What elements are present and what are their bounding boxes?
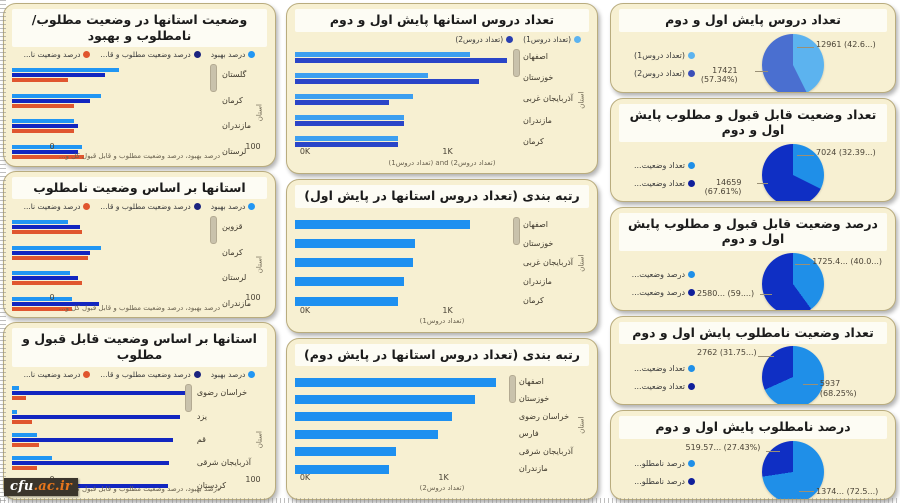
bar-favorable[interactable]: [12, 415, 180, 419]
card-rank-courses-first[interactable]: رتبه بندی (تعداد دروس استانها در پایش او…: [286, 179, 598, 332]
category-label: یزد: [197, 413, 251, 421]
card-courses-by-province-both[interactable]: تعداد دروس استانها پایش اول و دوم (تعداد…: [286, 3, 598, 174]
bar-favorable[interactable]: [12, 438, 173, 442]
legend-label: (تعداد دروس2): [634, 69, 685, 78]
bar-unfavorable[interactable]: [12, 78, 68, 82]
bar-group[interactable]: [295, 94, 509, 105]
legend-item[interactable]: درصد وضعیت...: [617, 270, 695, 279]
leader-line: [795, 264, 810, 265]
legend-swatch-favorable: [194, 203, 201, 210]
bar-group[interactable]: [295, 52, 509, 63]
card-title: تعداد وضعیت نامطلوب پایش اول و دوم: [619, 322, 887, 345]
x-axis-title: درصد بهبود، درصد وضعیت مطلوب و قابل قبول…: [4, 305, 275, 317]
x-axis: 0 100: [52, 142, 253, 153]
watermark-domain: .ac.ir: [34, 479, 72, 494]
bar-group[interactable]: [12, 220, 218, 234]
bar-courses1[interactable]: [295, 52, 470, 57]
legend-swatch-improvement: [248, 51, 255, 58]
x-tick: 1K: [442, 147, 452, 156]
bar-group[interactable]: [295, 258, 509, 267]
legend-label: تعداد وضعیت...: [634, 161, 685, 170]
card-acceptable-count-pie[interactable]: تعداد وضعیت قابل قبول و مطلوب پایش اول و…: [610, 98, 896, 202]
legend-label: درصد بهبود: [211, 370, 246, 379]
bar-unfavorable[interactable]: [12, 230, 82, 234]
category-label: گلستان: [222, 71, 251, 79]
x-axis-title: (تعداد دروس2) and (تعداد دروس1): [287, 160, 597, 172]
bar-favorable[interactable]: [12, 99, 90, 103]
bar-improvement[interactable]: [12, 456, 52, 460]
legend-item[interactable]: درصد وضعیت نا...: [24, 202, 91, 211]
card-rank-courses-second[interactable]: رتبه بندی (تعداد دروس استانها در پایش دو…: [286, 338, 598, 500]
bar-improvement[interactable]: [12, 433, 37, 437]
chart-legend: تعداد وضعیت... تعداد وضعیت...: [617, 161, 695, 188]
vertical-scrollbar[interactable]: [513, 49, 520, 77]
pie-slice-label: 1725.4... (40.0...): [812, 257, 882, 266]
legend-item[interactable]: درصد وضعیت مطلوب و قا...: [100, 370, 200, 379]
pie-slice-label: 2580... (59....): [697, 289, 754, 298]
bar-courses2[interactable]: [295, 378, 496, 387]
pie-wrap: تعداد وضعیت... تعداد وضعیت... 7024 (32.3…: [611, 144, 895, 202]
category-label: آذربایجان غربی: [523, 259, 573, 267]
bar-improvement[interactable]: [12, 271, 70, 275]
bar-courses2[interactable]: [295, 79, 479, 84]
bar-group[interactable]: [295, 115, 509, 126]
legend-label: (تعداد دروس2): [455, 35, 503, 44]
card-title: استانها بر اساس وضعیت قابل قبول و مطلوب: [12, 328, 267, 366]
bar-courses2[interactable]: [295, 430, 438, 439]
bar-improvement[interactable]: [12, 119, 74, 123]
category-label: خراسان رضوی: [197, 389, 251, 397]
card-title: رتبه بندی (تعداد دروس استانها در پایش دو…: [295, 344, 589, 367]
x-tick: 100: [245, 475, 260, 484]
category-label: فارس: [519, 430, 573, 438]
legend-swatch-courses2: [506, 36, 513, 43]
chart-legend: درصد نامطلو... درصد نامطلو...: [617, 459, 695, 486]
legend-label: تعداد وضعیت...: [634, 179, 685, 188]
bar-group[interactable]: [295, 297, 509, 306]
legend-item[interactable]: تعداد وضعیت...: [617, 382, 695, 391]
chart-legend: درصد بهبود درصد وضعیت مطلوب و قا... درصد…: [4, 369, 275, 379]
bar-favorable[interactable]: [12, 461, 169, 465]
x-axis: 0K 1K: [305, 147, 503, 158]
bar-group[interactable]: [295, 220, 509, 229]
x-axis: 0K 1K: [305, 306, 503, 317]
x-axis: 0 100: [52, 475, 253, 486]
bar-improvement[interactable]: [12, 94, 101, 98]
category-labels: اصفهان خوزستان آذربایجان غربی مازندران ک…: [519, 214, 576, 312]
vertical-scrollbar[interactable]: [509, 375, 516, 403]
card-title: استانها بر اساس وضعیت نامطلوب: [12, 177, 267, 200]
category-label: خوزستان: [519, 395, 573, 403]
x-tick: 1K: [442, 306, 452, 315]
y-axis-title: استان: [576, 214, 587, 312]
pie-wrap: (تعداد دروس1) (تعداد دروس2) 12961 (42.6.…: [611, 34, 895, 93]
legend-label: تعداد وضعیت...: [634, 364, 685, 373]
legend-swatch-status1: [688, 460, 695, 467]
leader-line: [797, 155, 814, 156]
card-title: تعداد وضعیت قابل قبول و مطلوب پایش اول و…: [619, 104, 887, 142]
bar-group[interactable]: [295, 412, 505, 421]
bar-courses2[interactable]: [295, 447, 396, 456]
chart-body: استان گلستان کرمان مازندران لرستان: [4, 59, 275, 165]
leader-line: [758, 356, 773, 357]
legend-label: تعداد وضعیت...: [634, 382, 685, 391]
bar-courses2[interactable]: [295, 395, 475, 404]
x-tick: 0: [49, 293, 54, 302]
legend-item[interactable]: درصد بهبود: [211, 50, 256, 59]
bar-unfavorable[interactable]: [12, 420, 32, 424]
legend-swatch-favorable: [194, 371, 201, 378]
legend-item[interactable]: درصد وضعیت...: [617, 288, 695, 297]
legend-label: (تعداد دروس1): [523, 35, 571, 44]
category-label: خراسان رضوی: [519, 413, 573, 421]
pie-slice-label: 519.57... (27.43%): [685, 443, 760, 452]
legend-swatch-status2: [688, 180, 695, 187]
pie-slice-label: 1374... (72.5...): [816, 487, 878, 496]
bar-group[interactable]: [12, 94, 218, 108]
x-tick: 0K: [300, 147, 310, 156]
bar-group[interactable]: [295, 430, 505, 439]
bar-group[interactable]: [12, 271, 218, 285]
bar-improvement[interactable]: [12, 68, 119, 72]
category-label: مازندران: [222, 122, 251, 130]
category-label: خوزستان: [523, 74, 573, 82]
category-label: اصفهان: [519, 378, 573, 386]
bar-improvement[interactable]: [12, 410, 17, 414]
category-label: خوزستان: [523, 240, 573, 248]
category-label: مازندران: [519, 465, 573, 473]
pie-area: 519.57... (27.43%) 1374... (72.5...): [697, 441, 889, 500]
pie-slice-label: 17421(57.34%): [701, 66, 738, 84]
legend-label: درصد نامطلو...: [634, 459, 685, 468]
bar-group[interactable]: [295, 73, 509, 84]
legend-item[interactable]: درصد بهبود: [211, 202, 256, 211]
bar-group[interactable]: [12, 433, 193, 447]
chart-legend: درصد بهبود درصد وضعیت مطلوب و قا... درصد…: [4, 49, 275, 59]
bar-courses1[interactable]: [295, 115, 404, 120]
legend-swatch-status2: [688, 383, 695, 390]
chart-legend: درصد وضعیت... درصد وضعیت...: [617, 270, 695, 297]
card-acceptable-percent-pie[interactable]: درصد وضعیت قابل قبول و مطلوب پایش اول و …: [610, 207, 896, 311]
bar-group[interactable]: [295, 277, 509, 286]
legend-item[interactable]: درصد نامطلو...: [617, 459, 695, 468]
card-unfavorable-count-pie[interactable]: تعداد وضعیت نامطلوب پایش اول و دوم تعداد…: [610, 316, 896, 406]
chart-body: درصد نامطلو... درصد نامطلو... 519.57... …: [611, 441, 895, 500]
bar-favorable[interactable]: [12, 251, 90, 255]
card-provinces-by-acceptable[interactable]: استانها بر اساس وضعیت قابل قبول و مطلوب …: [3, 322, 276, 500]
legend-label: درصد بهبود: [211, 202, 246, 211]
card-unfavorable-percent-pie[interactable]: درصد نامطلوب پایش اول و دوم درصد نامطلو.…: [610, 410, 896, 500]
card-title: درصد نامطلوب پایش اول و دوم: [619, 416, 887, 439]
x-tick: 100: [245, 142, 260, 151]
legend-label: درصد وضعیت نا...: [24, 202, 81, 211]
category-label: اصفهان: [523, 53, 573, 61]
bar-group[interactable]: [295, 136, 509, 147]
pie-slice-label: 2762 (31.75...): [697, 348, 757, 357]
legend-item[interactable]: تعداد وضعیت...: [617, 364, 695, 373]
category-label: قم: [197, 436, 251, 444]
card-provinces-by-unfavorable[interactable]: استانها بر اساس وضعیت نامطلوب درصد بهبود…: [3, 171, 276, 319]
bar-courses1[interactable]: [295, 136, 398, 141]
bar-improvement[interactable]: [12, 386, 19, 390]
vertical-scrollbar[interactable]: [210, 64, 217, 92]
chart-body: درصد وضعیت... درصد وضعیت... 1725.4... (4…: [611, 253, 895, 311]
bar-unfavorable[interactable]: [12, 129, 74, 133]
bars-container: [295, 214, 519, 312]
bar-group[interactable]: [12, 246, 218, 260]
legend-item[interactable]: درصد وضعیت مطلوب و قا...: [100, 50, 200, 59]
category-label: کرمان: [523, 138, 573, 146]
leader-line: [797, 47, 814, 48]
bar-unfavorable[interactable]: [12, 256, 88, 260]
bar-group[interactable]: [12, 119, 218, 133]
pie-area: 2762 (31.75...) 5937(68.25%): [697, 346, 889, 405]
vertical-scrollbar[interactable]: [210, 216, 217, 244]
bar-favorable[interactable]: [12, 225, 80, 229]
card-title: رتبه بندی (تعداد دروس استانها در پایش او…: [295, 185, 589, 208]
legend-item[interactable]: درصد وضعیت نا...: [24, 370, 91, 379]
legend-swatch-status1: [688, 365, 695, 372]
legend-label: (تعداد دروس1): [634, 51, 685, 60]
legend-swatch-improvement: [248, 203, 255, 210]
bar-courses1[interactable]: [295, 220, 470, 229]
x-tick: 1K: [438, 473, 448, 482]
legend-label: درصد وضعیت نا...: [24, 50, 81, 59]
pie-area: 1725.4... (40.0...) 2580... (59....): [697, 253, 889, 311]
legend-item[interactable]: درصد نامطلو...: [617, 477, 695, 486]
legend-label: درصد بهبود: [211, 50, 246, 59]
category-labels: اصفهان خوزستان آذربایجان غربی مازندران ک…: [519, 46, 576, 154]
legend-item[interactable]: درصد بهبود: [211, 370, 256, 379]
bar-courses2[interactable]: [295, 58, 507, 63]
category-label: کرمان: [222, 249, 251, 257]
card-title: تعداد دروس استانها پایش اول و دوم: [295, 9, 589, 32]
bar-group[interactable]: [12, 410, 193, 424]
legend-swatch-status1: [688, 271, 695, 278]
bar-favorable[interactable]: [12, 276, 78, 280]
bar-group[interactable]: [295, 447, 505, 456]
pie-wrap: تعداد وضعیت... تعداد وضعیت... 2762 (31.7…: [611, 346, 895, 405]
chart-legend: (تعداد دروس1) (تعداد دروس2): [617, 51, 695, 78]
bar-unfavorable[interactable]: [12, 443, 39, 447]
pie-slice-label: 5937(68.25%): [820, 379, 857, 397]
bar-courses2[interactable]: [295, 100, 389, 105]
legend-swatch-unfavorable: [83, 203, 90, 210]
leader-line: [757, 183, 769, 184]
vertical-scrollbar[interactable]: [185, 384, 192, 412]
bar-courses1[interactable]: [295, 73, 428, 78]
legend-label: درصد وضعیت مطلوب و قا...: [100, 202, 190, 211]
pie-area: 12961 (42.6...) 17421(57.34%): [697, 34, 889, 93]
legend-item[interactable]: (تعداد دروس1): [617, 51, 695, 60]
bar-unfavorable[interactable]: [12, 466, 37, 470]
bar-courses1[interactable]: [295, 94, 413, 99]
bar-group[interactable]: [12, 386, 193, 400]
x-axis-title: درصد بهبود، درصد وضعیت مطلوب و قابل قبول…: [4, 153, 275, 165]
legend-item[interactable]: تعداد وضعیت...: [617, 161, 695, 170]
legend-item[interactable]: تعداد وضعیت...: [617, 179, 695, 188]
bar-group[interactable]: [12, 456, 193, 470]
legend-label: درصد وضعیت...: [632, 288, 685, 297]
legend-label: درصد وضعیت مطلوب و قا...: [100, 370, 190, 379]
legend-swatch-favorable: [194, 51, 201, 58]
leader-line: [760, 294, 772, 295]
category-label: مازندران: [523, 278, 573, 286]
chart-legend: (تعداد دروس1) (تعداد دروس2): [287, 34, 597, 44]
legend-label: درصد نامطلو...: [634, 477, 685, 486]
middle-column: تعداد دروس استانها پایش اول و دوم (تعداد…: [282, 0, 602, 503]
pie-area: 7024 (32.39...) 14659(67.61%): [697, 144, 889, 202]
bar-courses1[interactable]: [295, 277, 404, 286]
pie-slice-label: 14659(67.61%): [705, 178, 742, 196]
x-axis: 0 100: [52, 293, 253, 304]
pie-slice-label: 7024 (32.39...): [816, 148, 876, 157]
category-label: مازندران: [523, 117, 573, 125]
bar-favorable[interactable]: [12, 124, 78, 128]
legend-swatch-improvement: [248, 371, 255, 378]
category-labels: اصفهان خوزستان خراسان رضوی فارس آذربایجا…: [515, 372, 576, 479]
chart-body: تعداد وضعیت... تعداد وضعیت... 7024 (32.3…: [611, 144, 895, 202]
bar-favorable[interactable]: [12, 391, 186, 395]
legend-label: درصد وضعیت...: [632, 270, 685, 279]
bars-container: [295, 372, 515, 479]
card-course-count-pie[interactable]: تعداد دروس پایش اول و دوم (تعداد دروس1) …: [610, 3, 896, 93]
dashboard-root: وضعیت استانها در وضعیت مطلوب/نامطلوب و ب…: [0, 0, 900, 503]
left-column: تعداد دروس پایش اول و دوم (تعداد دروس1) …: [602, 0, 900, 503]
category-label: قزوین: [222, 223, 251, 231]
legend-item[interactable]: (تعداد دروس1): [523, 35, 581, 44]
card-provinces-status-overview[interactable]: وضعیت استانها در وضعیت مطلوب/نامطلوب و ب…: [3, 3, 276, 167]
chart-body: (تعداد دروس1) (تعداد دروس2) 12961 (42.6.…: [611, 34, 895, 93]
x-axis-title: (تعداد دروس1): [287, 318, 597, 330]
legend-swatch-courses1: [574, 36, 581, 43]
bar-group[interactable]: [295, 378, 505, 387]
bar-unfavorable[interactable]: [12, 104, 74, 108]
legend-item[interactable]: درصد وضعیت مطلوب و قا...: [100, 202, 200, 211]
legend-swatch-courses1: [688, 52, 695, 59]
leader-line: [799, 491, 814, 492]
pie-slice-label: 12961 (42.6...): [816, 40, 876, 49]
y-axis-title: استان: [576, 372, 587, 479]
legend-item[interactable]: (تعداد دروس2): [617, 69, 695, 78]
bar-improvement[interactable]: [12, 246, 101, 250]
category-label: کرمان: [523, 297, 573, 305]
category-label: اصفهان: [523, 221, 573, 229]
category-label: کرمان: [222, 97, 251, 105]
right-column: وضعیت استانها در وضعیت مطلوب/نامطلوب و ب…: [0, 0, 282, 503]
x-axis-title: (تعداد دروس2): [287, 485, 597, 497]
bar-favorable[interactable]: [12, 73, 105, 77]
vertical-scrollbar[interactable]: [513, 217, 520, 245]
chart-body: تعداد وضعیت... تعداد وضعیت... 2762 (31.7…: [611, 346, 895, 405]
bar-courses2[interactable]: [295, 121, 404, 126]
card-title: تعداد دروس پایش اول و دوم: [619, 9, 887, 32]
card-title: درصد وضعیت قابل قبول و مطلوب پایش اول و …: [619, 213, 887, 251]
legend-label: درصد وضعیت نا...: [24, 370, 81, 379]
site-watermark: cfu.ac.ir: [4, 478, 78, 496]
chart-body: استان قزوین کرمان لرستان مازندران: [4, 211, 275, 317]
chart-legend: درصد بهبود درصد وضعیت مطلوب و قا... درصد…: [4, 201, 275, 211]
legend-label: درصد وضعیت مطلوب و قا...: [100, 50, 190, 59]
legend-swatch-status2: [688, 289, 695, 296]
legend-swatch-status2: [688, 478, 695, 485]
chart-body: استان اصفهان خوزستان آذربایجان غربی مازن…: [287, 210, 597, 332]
chart-legend: تعداد وضعیت... تعداد وضعیت...: [617, 364, 695, 391]
legend-swatch-status1: [688, 162, 695, 169]
x-tick: 0: [49, 142, 54, 151]
legend-swatch-unfavorable: [83, 371, 90, 378]
category-label: آذربایجان شرقی: [197, 459, 251, 467]
x-axis: 0K 1K: [305, 473, 503, 484]
chart-body: استان اصفهان خوزستان آذربایجان غربی مازن…: [287, 44, 597, 174]
bar-courses1[interactable]: [295, 297, 398, 306]
legend-item[interactable]: (تعداد دروس2): [455, 35, 513, 44]
pie-chart[interactable]: [762, 34, 824, 93]
pie-chart[interactable]: [762, 441, 824, 500]
leader-line: [755, 71, 768, 72]
bar-unfavorable[interactable]: [12, 396, 26, 400]
pie-wrap: درصد نامطلو... درصد نامطلو... 519.57... …: [611, 441, 895, 500]
category-label: آذربایجان غربی: [523, 95, 573, 103]
leader-line: [803, 384, 818, 385]
bar-group[interactable]: [295, 239, 509, 248]
leader-line: [766, 451, 779, 452]
bar-courses1[interactable]: [295, 258, 413, 267]
bar-group[interactable]: [295, 395, 505, 404]
legend-swatch-unfavorable: [83, 51, 90, 58]
watermark-cfu: cfu: [10, 479, 34, 494]
pie-chart[interactable]: [762, 346, 824, 405]
card-title: وضعیت استانها در وضعیت مطلوب/نامطلوب و ب…: [12, 9, 267, 47]
pie-wrap: درصد وضعیت... درصد وضعیت... 1725.4... (4…: [611, 253, 895, 311]
bar-improvement[interactable]: [12, 220, 68, 224]
legend-item[interactable]: درصد وضعیت نا...: [24, 50, 91, 59]
chart-body: استان اصفهان خوزستان خراسان رضوی فارس آذ…: [287, 368, 597, 499]
bars-container: [295, 46, 519, 154]
category-label: لرستان: [222, 274, 251, 282]
bar-group[interactable]: [12, 68, 218, 82]
bar-unfavorable[interactable]: [12, 281, 82, 285]
pie-chart[interactable]: [762, 144, 824, 202]
category-label: آذربایجان شرقی: [519, 448, 573, 456]
y-axis-title: استان: [576, 46, 587, 154]
x-tick: 100: [245, 293, 260, 302]
x-tick: 0K: [300, 306, 310, 315]
x-tick: 0K: [300, 473, 310, 482]
bar-courses2[interactable]: [295, 412, 452, 421]
bar-courses1[interactable]: [295, 239, 415, 248]
legend-swatch-courses2: [688, 70, 695, 77]
